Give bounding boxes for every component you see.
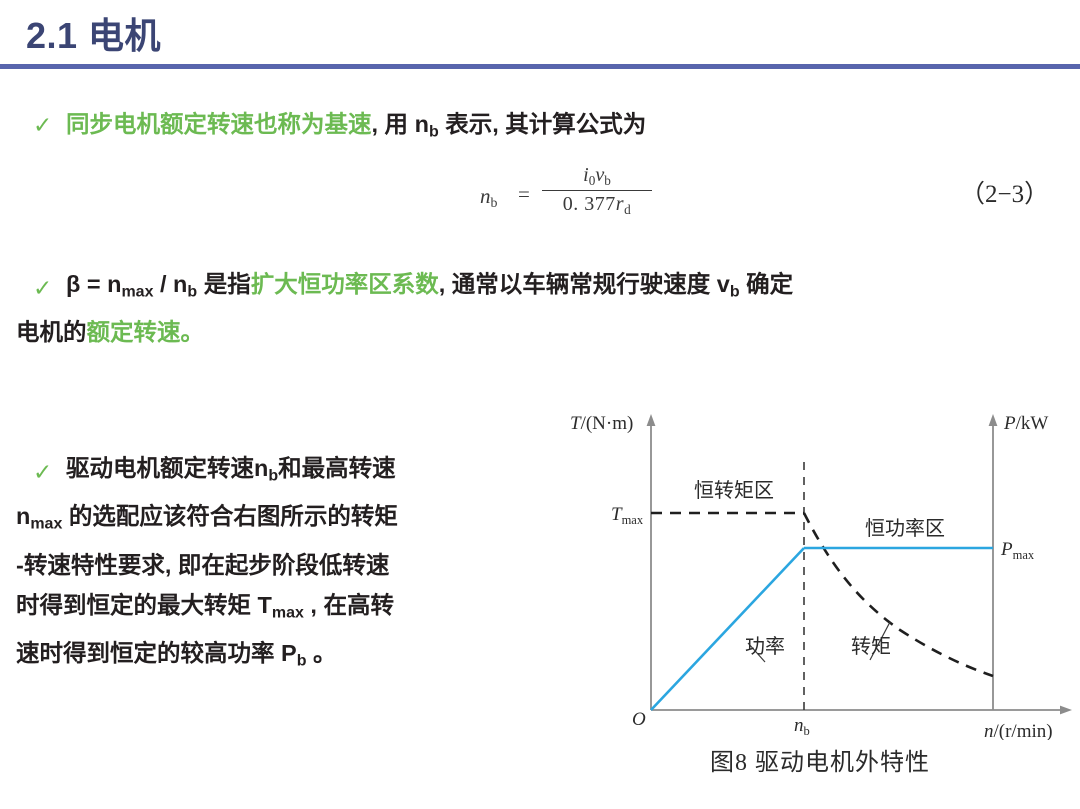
equation-number: （2−3） [960, 174, 1049, 210]
equation-numerator-vb-sub: b [604, 173, 611, 188]
bullet2-seg-slash: / [153, 271, 173, 297]
bullet2-seg-shizhi: 是指 [197, 271, 251, 297]
bullet3-line3: -转速特性要求, 即在起步阶段低转速 [16, 545, 546, 585]
x-axis-label: n/(r/min) [984, 721, 1053, 740]
axis-right-arrowhead [989, 414, 998, 426]
annotation-constant-torque-region: 恒转矩区 [694, 479, 774, 502]
figure-caption: 图8 驱动电机外特性 [560, 742, 1080, 777]
bullet2-seg-plain-2: 确定 [740, 271, 794, 297]
bullet3-line5: 速时得到恒定的较高功率 Pb 。 [16, 633, 546, 681]
equation-2-3: nb = i0vb 0. 377rd [466, 160, 766, 230]
bullet3-seg-1: 驱动电机额定转速 [66, 455, 254, 481]
bullet3-seg-4: 时得到恒定的最大转矩 [16, 592, 258, 618]
annotation-torque-curve: 转矩 [851, 635, 891, 658]
equation-numerator-vb-base: v [595, 164, 604, 186]
bullet2-seg-highlight-1: 扩大恒功率区系数 [251, 271, 439, 297]
y-tick-label-tmax: Tmax [611, 504, 644, 527]
y-axis-right-label: P/kW [1003, 413, 1048, 434]
equation-denominator-const: 0. 377 [563, 193, 616, 215]
origin-label: O [632, 709, 646, 730]
equation-fraction: i0vb 0. 377rd [542, 164, 652, 218]
bullet3-var-nmax-base: n [16, 503, 30, 529]
bullet1-var-nb-base: n [415, 111, 429, 137]
equation-denominator: 0. 377rd [542, 191, 652, 218]
bullet2-var-vb: vb [717, 271, 740, 297]
bullet3-seg-3: 的选配应该符合右图所示的转矩 [62, 503, 398, 529]
axis-bottom-arrowhead [1060, 706, 1072, 715]
bullet3-var-nb-base: n [254, 455, 268, 481]
power-rising-segment [651, 548, 804, 710]
bullet3-seg-5: , 在高转 [304, 592, 394, 618]
annotation-constant-power-region: 恒功率区 [865, 517, 945, 540]
bullet3-seg-2: 和最高转速 [278, 455, 396, 481]
x-tick-label-nb: nb [794, 715, 810, 738]
equation-denominator-rd-sub: d [624, 202, 631, 217]
figure-motor-external-characteristic: T/(N·m) P/kW n/(r/min) O Tmax Pmax nb 恒转… [560, 400, 1080, 800]
bullet2-seg-plain-3: 电机的 [16, 319, 87, 345]
bullet-marker-check-3: ✓ [33, 461, 52, 484]
equation-equals-sign: = [518, 182, 530, 207]
bullet2-var-vb-base: v [717, 271, 730, 297]
bullet2-seg-beta: β = [66, 271, 107, 297]
bullet3-line2: nmax 的选配应该符合右图所示的转矩 [16, 496, 546, 544]
bullet2-line2: 电机的额定转速。 [16, 312, 1056, 352]
bullet3-var-nb-sub: b [268, 467, 278, 484]
bullet3-var-pb: Pb [281, 640, 306, 666]
bullet1-seg-highlight: 同步电机额定转速也称为基速 [66, 111, 372, 137]
bullet3-var-pb-base: P [281, 640, 297, 666]
bullet-marker-check-1: ✓ [33, 114, 52, 137]
bullet3-var-tmax-sub: max [272, 604, 304, 621]
bullet1-var-nb: nb [415, 111, 439, 137]
equation-lhs: nb [480, 184, 497, 211]
bullet3-var-nmax: nmax [16, 503, 62, 529]
title-divider [0, 64, 1080, 69]
equation-numerator: i0vb [542, 164, 652, 190]
bullet3-var-nmax-sub: max [30, 516, 62, 533]
bullet2-var-nmax-base: n [107, 271, 121, 297]
equation-lhs-base: n [480, 184, 491, 208]
bullet1-seg-plain-2: 表示, 其计算公式为 [439, 111, 647, 137]
bullet-paragraph-2: β = nmax / nb 是指扩大恒功率区系数, 通常以车辆常规行驶速度 vb… [66, 264, 1056, 352]
bullet3-var-nb: nb [254, 455, 278, 481]
y-axis-left-label: T/(N·m) [570, 413, 633, 434]
bullet1-var-nb-sub: b [429, 123, 439, 140]
bullet2-var-nmax-sub: max [121, 283, 153, 300]
equation-denominator-rd-base: r [616, 193, 624, 215]
bullet-paragraph-1: 同步电机额定转速也称为基速, 用 nb 表示, 其计算公式为 [66, 104, 1046, 152]
bullet3-line4: 时得到恒定的最大转矩 Tmax , 在高转 [16, 585, 546, 633]
bullet1-seg-plain-1: , 用 [372, 111, 415, 137]
bullet2-seg-plain-1: , 通常以车辆常规行驶速度 [439, 271, 717, 297]
bullet2-var-nb-sub: b [187, 283, 197, 300]
bullet2-var-nb: nb [173, 271, 197, 297]
bullet2-seg-highlight-2: 额定转速。 [87, 319, 205, 345]
bullet3-seg-7: 。 [306, 640, 336, 666]
axis-left-arrowhead [647, 414, 656, 426]
bullet-marker-check-2: ✓ [33, 277, 52, 300]
bullet2-var-nb-base: n [173, 271, 187, 297]
chart-svg: T/(N·m) P/kW n/(r/min) O Tmax Pmax nb 恒转… [560, 400, 1080, 740]
annotation-power-curve: 功率 [745, 635, 785, 658]
page-title: 2.1 电机 [26, 14, 161, 58]
bullet2-var-nmax: nmax [107, 271, 153, 297]
bullet3-var-tmax-base: T [258, 592, 272, 618]
bullet2-var-vb-sub: b [730, 283, 740, 300]
bullet3-seg-6: 速时得到恒定的较高功率 [16, 640, 281, 666]
bullet3-var-tmax: Tmax [258, 592, 304, 618]
y-tick-label-pmax: Pmax [1000, 539, 1035, 562]
equation-lhs-sub: b [491, 195, 498, 210]
bullet-paragraph-3: 驱动电机额定转速nb和最高转速nmax 的选配应该符合右图所示的转矩-转速特性要… [66, 448, 546, 682]
